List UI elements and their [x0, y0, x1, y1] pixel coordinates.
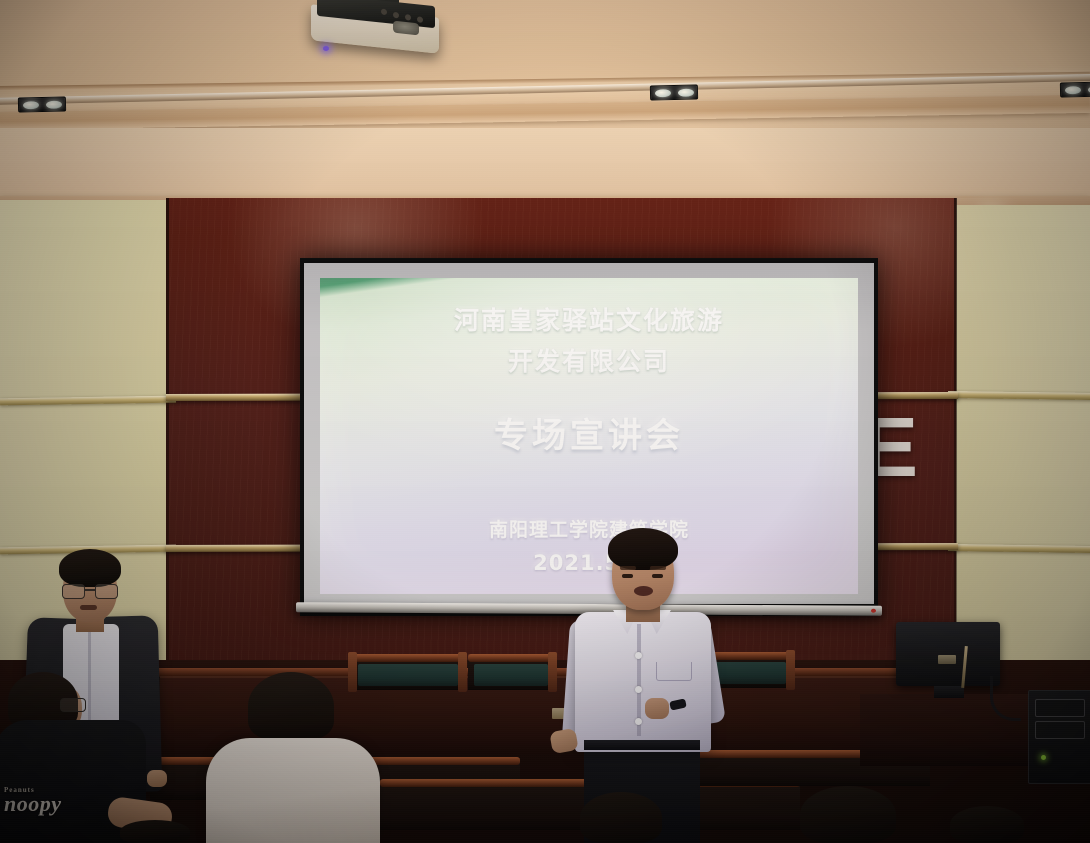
slide-company-line-2: 开发有限公司: [508, 343, 670, 382]
bench-panel: [474, 664, 548, 686]
slide-company-line-1: 河南皇家驿站文化旅游: [454, 302, 724, 341]
bench-post: [786, 650, 795, 690]
rack-slot: [1035, 699, 1085, 717]
bench-panel: [358, 664, 458, 686]
hand: [147, 770, 167, 787]
eyeglasses-icon: [60, 698, 86, 712]
right-hand: [645, 698, 669, 719]
ceiling-lower-plane: [0, 128, 1090, 206]
track-light-head-icon: [18, 96, 66, 112]
av-equipment-rack: [1028, 690, 1090, 784]
projector-power-led-icon: [323, 46, 329, 51]
hair: [59, 549, 121, 587]
eyeglasses-icon: [62, 584, 118, 597]
slide-title: 专场宣讲会: [494, 408, 684, 457]
podium-monitor[interactable]: [896, 622, 1000, 686]
wall-panel-seam: [166, 198, 169, 718]
projected-slide: 河南皇家驿站文化旅游 开发有限公司 专场宣讲会 南阳理工学院建筑学院 2021.…: [320, 278, 858, 594]
audience-head: [950, 806, 1024, 843]
screen-bar-endcap-icon: [871, 609, 876, 613]
shirt-button-icon: [635, 652, 642, 659]
audience-head: [580, 792, 662, 843]
mouth: [634, 586, 653, 596]
monitor-brand-logo-icon: [938, 655, 956, 664]
audience-head: [800, 786, 896, 843]
eye: [652, 574, 663, 578]
monitor-stand: [934, 686, 964, 698]
hair: [608, 528, 678, 570]
eyebrow: [650, 566, 666, 570]
t-shirt-logo-text: noopy: [4, 791, 62, 816]
shirt-button-icon: [635, 686, 642, 693]
dress-shirt: [575, 612, 711, 752]
mouth: [80, 605, 97, 610]
bench-post: [548, 652, 557, 692]
bench-backrest: [352, 654, 464, 662]
bench-post: [348, 652, 357, 692]
bench-backrest: [468, 654, 554, 662]
rack-slot: [1035, 721, 1085, 739]
track-light-head-icon: [1060, 81, 1090, 97]
eyebrow: [620, 566, 636, 570]
t-shirt-graphic-text: Peanuts noopy: [4, 786, 62, 817]
shirt-button-icon: [635, 718, 642, 725]
hair: [248, 672, 334, 740]
audience-head: [120, 820, 190, 843]
eye: [622, 574, 633, 578]
shirt-pocket: [656, 662, 692, 681]
bench-post: [458, 652, 467, 692]
photo-scene: E 河南皇家驿站文化旅游 开发有限公司 专场宣讲会 南阳理工学院建筑学院 202…: [0, 0, 1090, 843]
ceiling-projector: [307, 0, 443, 52]
belt: [584, 740, 700, 750]
t-shirt: [206, 738, 380, 843]
status-led-icon: [1041, 755, 1046, 760]
projection-screen: 河南皇家驿站文化旅游 开发有限公司 专场宣讲会 南阳理工学院建筑学院 2021.…: [300, 258, 878, 616]
track-light-head-icon: [650, 84, 698, 100]
